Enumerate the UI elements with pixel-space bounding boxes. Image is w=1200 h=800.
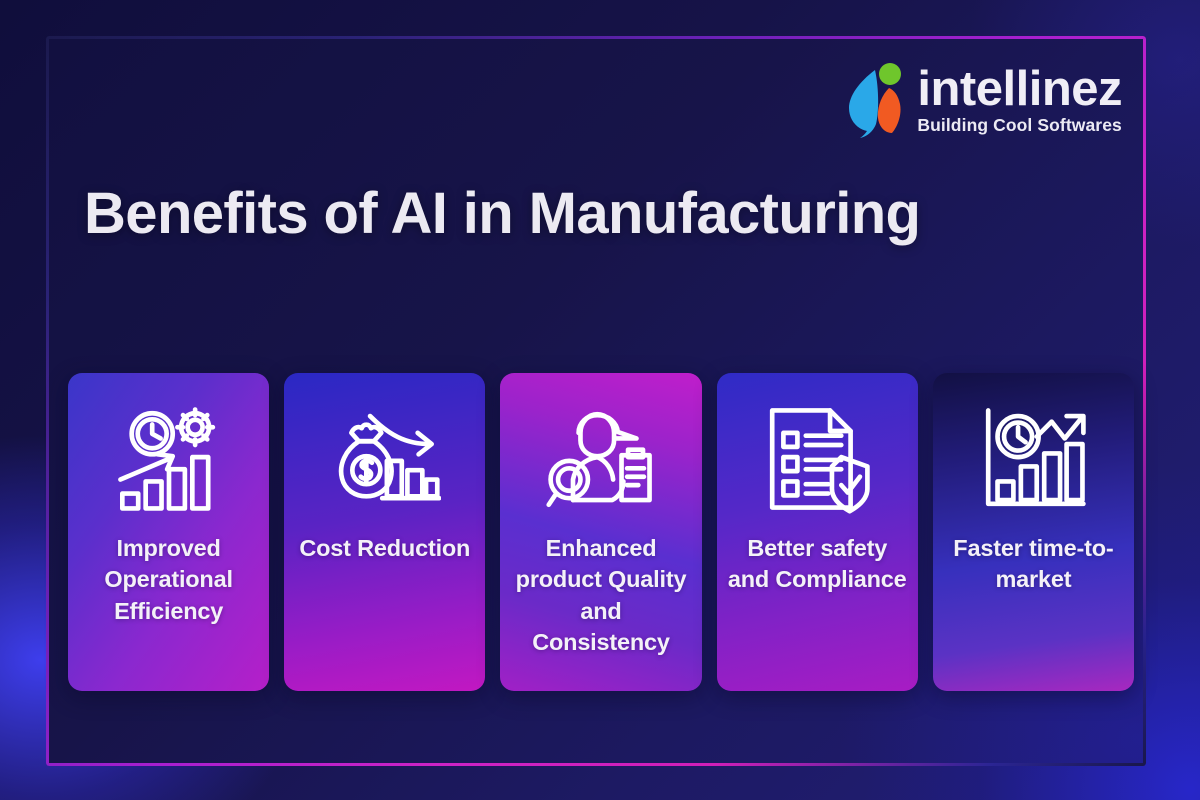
clock-bar-chart-up-arrow-icon <box>977 399 1089 519</box>
infographic-stage: intellinez Building Cool Softwares Benef… <box>0 0 1200 800</box>
brand-name: intellinez <box>917 66 1122 113</box>
brand-logo: intellinez Building Cool Softwares <box>845 60 1122 140</box>
benefit-card-cost-reduction[interactable]: Cost Reduction <box>284 373 485 691</box>
benefit-card-enhanced-product-quality-and-consistency[interactable]: Enhanced product Quality and Consistency <box>500 373 701 691</box>
money-bag-declining-chart-icon <box>329 399 441 519</box>
benefit-card-row: Improved Operational Efficiency <box>68 373 1134 691</box>
benefit-card-faster-time-to-market[interactable]: Faster time-to-market <box>933 373 1134 691</box>
brand-wordmark-block: intellinez Building Cool Softwares <box>917 66 1122 135</box>
clock-gear-growth-chart-icon <box>113 399 225 519</box>
benefit-card-improved-operational-efficiency[interactable]: Improved Operational Efficiency <box>68 373 269 691</box>
benefit-card-label: Faster time-to-market <box>933 533 1134 596</box>
benefit-card-label: Cost Reduction <box>289 533 480 564</box>
benefit-card-label: Better safety and Compliance <box>717 533 918 596</box>
inspector-magnifier-clipboard-icon <box>545 399 657 519</box>
page-title: Benefits of AI in Manufacturing <box>84 184 920 245</box>
checklist-shield-check-icon <box>761 399 873 519</box>
benefit-card-better-safety-and-compliance[interactable]: Better safety and Compliance <box>717 373 918 691</box>
brand-tagline: Building Cool Softwares <box>917 117 1122 135</box>
benefit-card-label: Improved Operational Efficiency <box>68 533 269 627</box>
intellinez-leaf-logo-icon <box>845 60 907 140</box>
benefit-card-label: Enhanced product Quality and Consistency <box>500 533 701 658</box>
